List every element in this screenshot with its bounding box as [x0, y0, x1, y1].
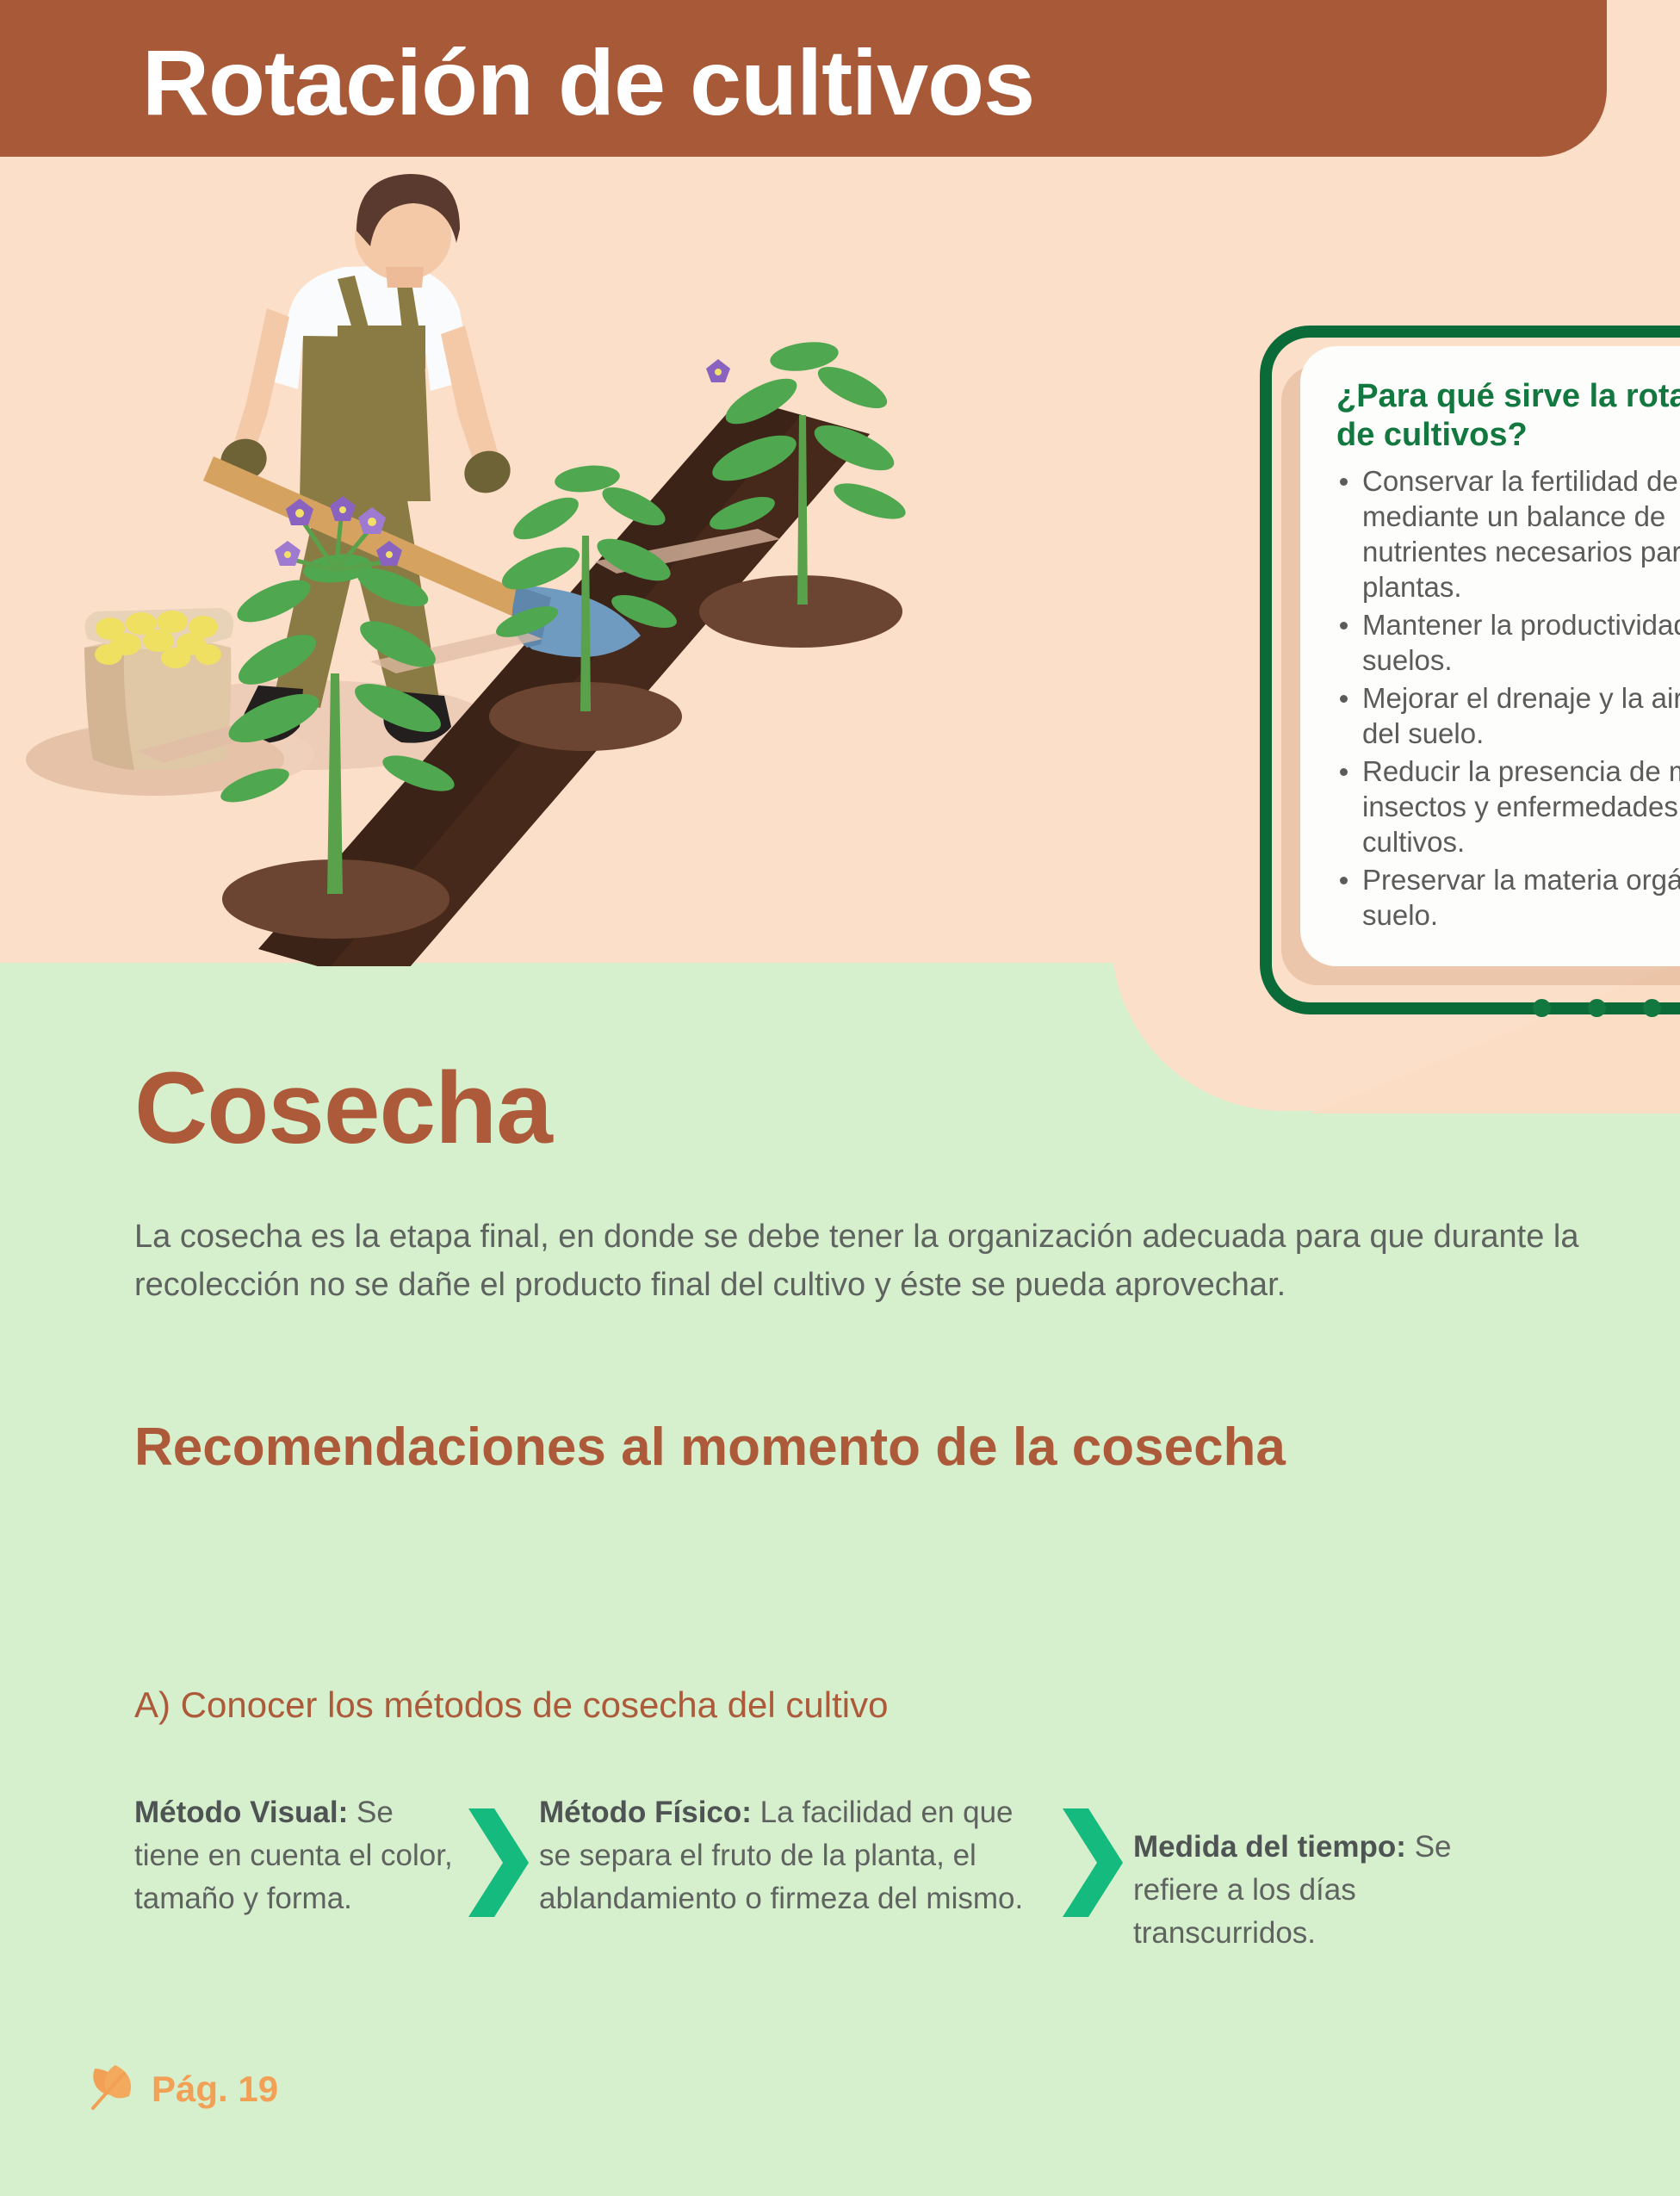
farm-illustration	[0, 157, 1206, 966]
info-card-bullet-list: Conservar la fertilidad del suelo median…	[1336, 463, 1680, 933]
list-item: Reducir la presencia de malezas, insecto…	[1362, 754, 1680, 859]
page-header-bar: Rotación de cultivos	[0, 0, 1607, 157]
method-fisico: Método Físico: La facilidad en que se se…	[539, 1791, 1051, 1920]
method-label: Método Visual:	[134, 1796, 348, 1829]
method-label: Método Físico:	[539, 1796, 752, 1829]
leaf-icon	[86, 2060, 139, 2118]
list-item: Conservar la fertilidad del suelo median…	[1362, 463, 1680, 605]
section-intro-paragraph: La cosecha es la etapa final, en donde s…	[134, 1213, 1581, 1309]
method-medida-tiempo: Medida del tiempo: Se refiere a los días…	[1133, 1791, 1503, 1955]
page-number-label: Pág. 19	[152, 2071, 278, 2107]
method-label: Medida del tiempo:	[1133, 1830, 1406, 1864]
page-title: Rotación de cultivos	[142, 36, 1034, 129]
methods-row: Método Visual: Se tiene en cuenta el col…	[134, 1791, 1598, 1955]
page-footer: Pág. 19	[86, 2060, 278, 2118]
list-item: Preservar la materia orgánica del suelo.	[1362, 862, 1680, 933]
decorative-dots	[1533, 999, 1680, 1017]
dot-icon	[1588, 999, 1606, 1017]
list-item: Mejorar el drenaje y la aireación del su…	[1362, 680, 1680, 751]
dot-icon	[1643, 999, 1661, 1017]
chevron-right-icon-1	[457, 1791, 539, 1922]
dot-icon	[1533, 999, 1551, 1017]
info-card: ¿Para qué sirve la rotación de cultivos?…	[1300, 346, 1680, 966]
list-item: Mantener la productividad de los suelos.	[1362, 607, 1680, 678]
section-subheading: Recomendaciones al momento de la cosecha	[134, 1414, 1426, 1481]
list-item-a: A) Conocer los métodos de cosecha del cu…	[134, 1684, 888, 1727]
info-card-title: ¿Para qué sirve la rotación de cultivos?	[1336, 377, 1680, 455]
method-visual: Método Visual: Se tiene en cuenta el col…	[134, 1791, 457, 1920]
chevron-right-icon-2	[1051, 1791, 1133, 1922]
section-heading-cosecha: Cosecha	[134, 1058, 552, 1159]
